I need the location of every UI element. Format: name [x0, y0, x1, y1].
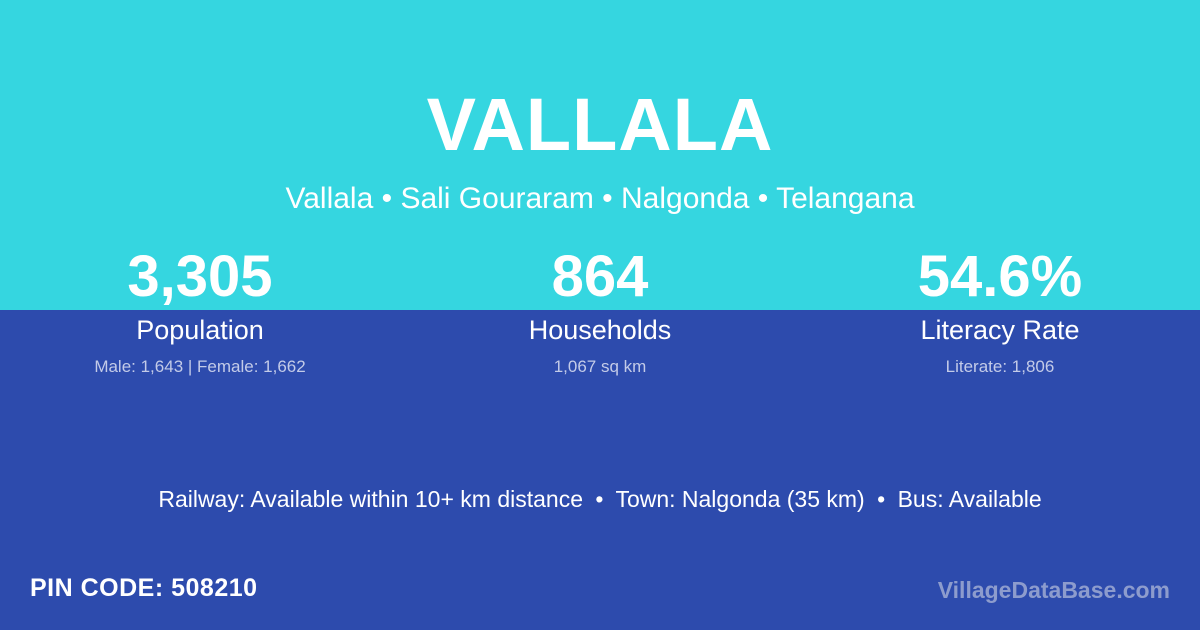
stat-value: 54.6%: [800, 243, 1200, 311]
stat-sublabel: 1,067 sq km: [400, 355, 800, 379]
pin-code: PIN CODE: 508210: [30, 572, 258, 604]
stat-sublabel: Male: 1,643 | Female: 1,662: [0, 355, 400, 379]
stats-row: 3,305 Population Male: 1,643 | Female: 1…: [0, 243, 1200, 379]
stat-literacy-rate: 54.6% Literacy Rate Literate: 1,806: [800, 243, 1200, 379]
stat-value: 864: [400, 243, 800, 311]
brand-name: VillageDataBase: [938, 577, 1117, 603]
transport-railway: Railway: Available within 10+ km distanc…: [158, 486, 583, 512]
village-info-card: VALLALA Vallala • Sali Gouraram • Nalgon…: [0, 0, 1200, 630]
breadcrumb: Vallala • Sali Gouraram • Nalgonda • Tel…: [0, 180, 1200, 218]
stat-population: 3,305 Population Male: 1,643 | Female: 1…: [0, 243, 400, 379]
transport-info: Railway: Available within 10+ km distanc…: [0, 483, 1200, 515]
stat-households: 864 Households 1,067 sq km: [400, 243, 800, 379]
transport-town: Town: Nalgonda (35 km): [615, 486, 864, 512]
transport-separator-2: •: [871, 486, 891, 512]
brand-tld: .com: [1116, 577, 1170, 603]
stat-label: Literacy Rate: [800, 313, 1200, 347]
site-brand: VillageDataBase.com: [938, 575, 1170, 605]
transport-bus: Bus: Available: [898, 486, 1042, 512]
transport-separator-1: •: [589, 486, 609, 512]
stat-label: Households: [400, 313, 800, 347]
stat-value: 3,305: [0, 243, 400, 311]
stat-label: Population: [0, 313, 400, 347]
stat-sublabel: Literate: 1,806: [800, 355, 1200, 379]
page-title: VALLALA: [0, 82, 1200, 168]
